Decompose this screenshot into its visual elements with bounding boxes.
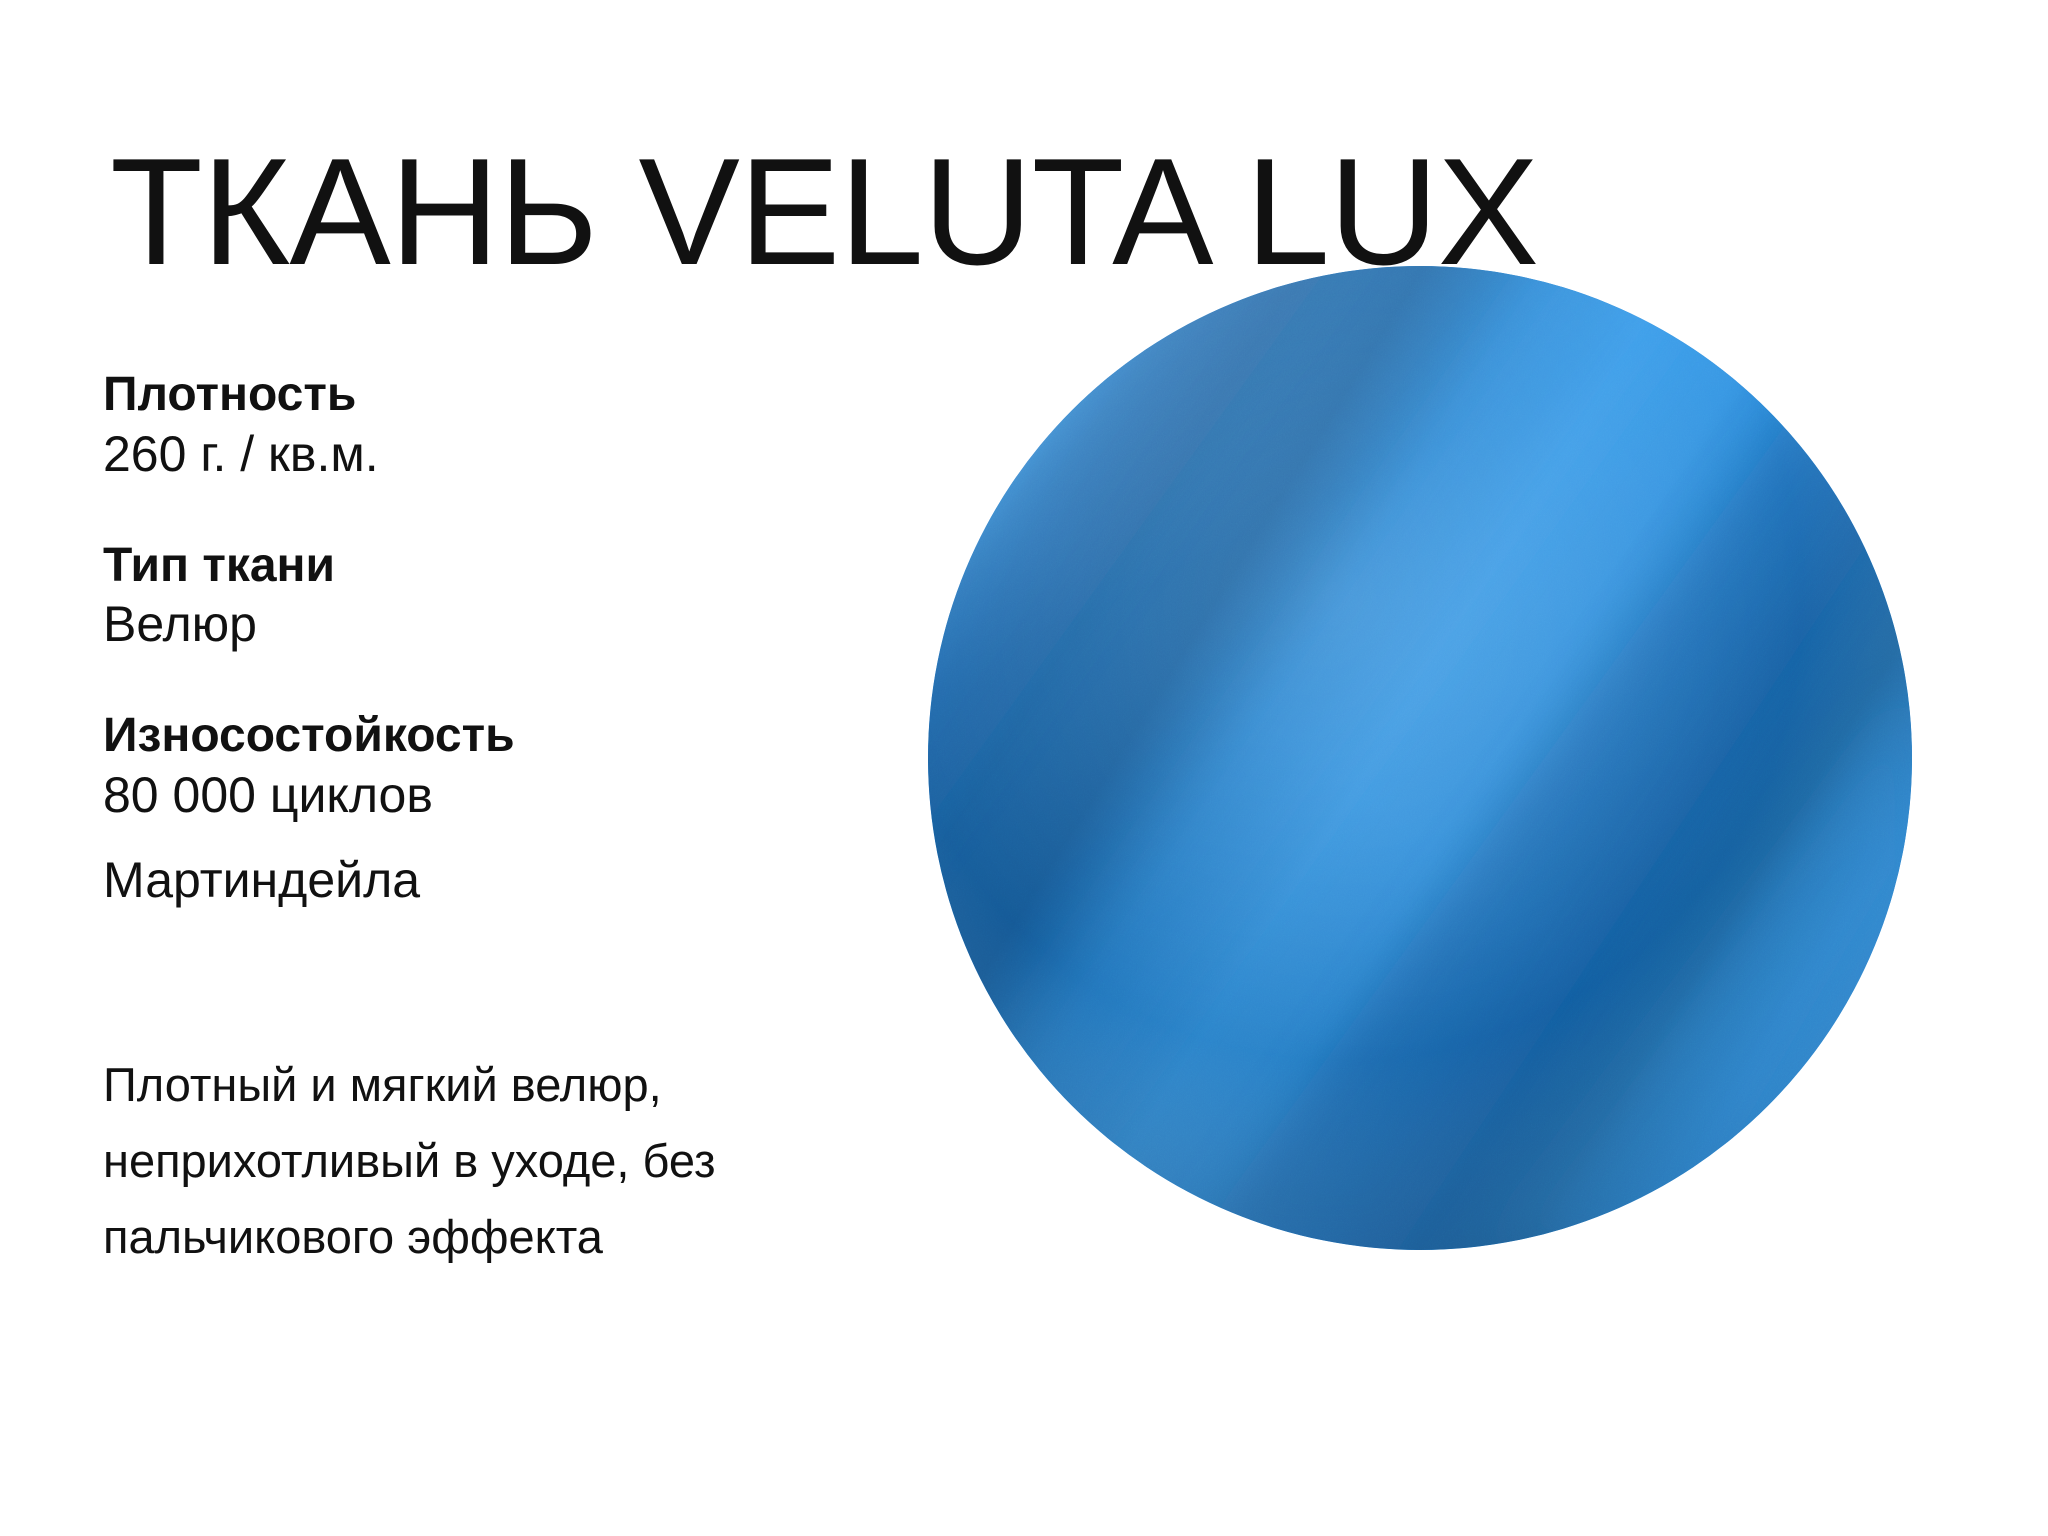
spec-label-fabric-type: Тип ткани	[103, 537, 933, 595]
fabric-description: Плотный и мягкий велюр, неприхотливый в …	[103, 1047, 943, 1275]
spec-value-durability-standard: Мартиндейла	[103, 850, 933, 911]
fabric-swatch-circle	[928, 266, 1912, 1250]
spec-value-density: 260 г. / кв.м.	[103, 424, 933, 485]
spec-item-density: Плотность 260 г. / кв.м.	[103, 366, 933, 485]
spec-value-fabric-type: Велюр	[103, 594, 933, 655]
fabric-texture-graphic	[928, 266, 1912, 1250]
spec-label-density: Плотность	[103, 366, 933, 424]
fabric-info-card: ТКАНЬ VELUTA LUX Плотность 260 г. / кв.м…	[0, 0, 2048, 1536]
spec-item-durability: Износостойкость 80 000 циклов Мартиндейл…	[103, 707, 933, 911]
page-title: ТКАНЬ VELUTA LUX	[110, 130, 1538, 294]
spec-list: Плотность 260 г. / кв.м. Тип ткани Велюр…	[103, 366, 933, 911]
spec-label-durability: Износостойкость	[103, 707, 933, 765]
spec-value-durability: 80 000 циклов	[103, 765, 933, 826]
spec-item-fabric-type: Тип ткани Велюр	[103, 537, 933, 656]
